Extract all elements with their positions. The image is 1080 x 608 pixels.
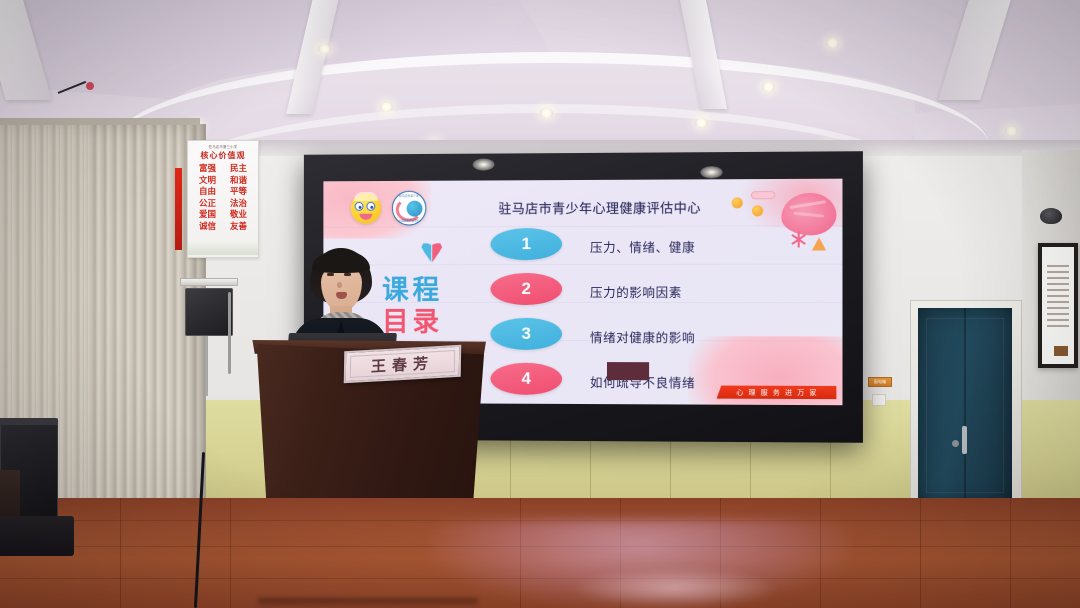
red-wall-strip [175, 168, 182, 250]
broken-heart-icon [421, 243, 443, 263]
electrical-warning-sign: 配电箱 [868, 377, 892, 387]
smiley-face-logo-icon [351, 193, 381, 224]
screen-light-reflection [700, 166, 722, 178]
conduit-pipe [205, 336, 208, 396]
poster-row: 爱国敬业 [192, 209, 254, 221]
poster-row: 富强民主 [192, 163, 254, 175]
slide-item-number: 1 [491, 228, 563, 260]
poster-row: 公正法治 [192, 198, 254, 210]
rack-base [0, 516, 74, 556]
speaker-nose [337, 282, 342, 288]
speaker-nameplate: 王春芳 [344, 345, 462, 384]
door-handle[interactable] [962, 426, 967, 454]
poster-value: 平等 [230, 186, 247, 198]
poster-title: 核心价值观 [192, 150, 254, 161]
downlight-icon [380, 102, 393, 112]
poster-value: 敬业 [230, 209, 247, 221]
poster-value: 爱国 [199, 209, 216, 221]
downlight-icon [318, 44, 331, 54]
conduit-pipe [228, 292, 231, 374]
poster-value: 文明 [199, 175, 216, 187]
slide-dark-block [607, 362, 649, 380]
slide-footer-banner: 心理服务进万家 [717, 386, 837, 400]
electrical-panel: ▮▮▮▮ [185, 288, 233, 336]
poster-value: 友善 [230, 221, 247, 233]
slide-item-number: 3 [491, 318, 563, 350]
seal-bottom-text: 心理健康评估中心 [393, 219, 425, 223]
wall-switch-box [872, 394, 886, 406]
poster-value: 公正 [199, 198, 216, 210]
poster-header: 驻马店市第三小学 [192, 144, 254, 149]
poster-value: 和谐 [230, 175, 247, 187]
speaker-eye [327, 273, 334, 276]
poster-value: 诚信 [199, 221, 216, 233]
spark-icon [790, 231, 808, 247]
poster-row: 诚信友善 [192, 221, 254, 233]
sign-label: 配电箱 [869, 378, 891, 386]
poster-value: 民主 [230, 163, 247, 175]
security-camera-icon [1040, 208, 1062, 224]
cone-icon [812, 237, 826, 250]
poster-row: 自由平等 [192, 186, 254, 198]
downlight-icon [695, 118, 708, 128]
downlight-icon [762, 82, 775, 92]
microphone-icon [86, 82, 94, 90]
nameplate-text: 王春芳 [350, 350, 455, 378]
slide-item-label: 情绪对健康的影响 [590, 327, 695, 346]
screen-light-spill [570, 568, 780, 608]
lecture-hall-photo: ▮▮▮▮ 驻马店市第三小学 核心价值观 富强民主 文明和谐 自由平等 公正法治 … [0, 0, 1080, 608]
screen-light-reflection [473, 159, 495, 171]
speaker-fringe [312, 250, 370, 273]
door-lock-icon[interactable] [952, 440, 959, 447]
poster-value: 富强 [199, 163, 216, 175]
poster-value: 自由 [199, 186, 216, 198]
core-values-poster: 驻马店市第三小学 核心价值观 富强民主 文明和谐 自由平等 公正法治 爱国敬业 … [187, 140, 259, 258]
slide-item-number: 2 [491, 273, 563, 305]
poster-row: 文明和谐 [192, 175, 254, 187]
center-seal-logo-icon: 驻马店市青少年 心理健康评估中心 [392, 191, 426, 226]
curtain-rod [0, 118, 200, 125]
speaker-eye [344, 273, 351, 276]
slide-heading: 驻马店市青少年心理健康评估中心 [498, 197, 809, 217]
seal-top-text: 驻马店市青少年 [393, 193, 425, 197]
slide-item-label: 压力、情绪、健康 [590, 237, 695, 256]
slide-item-number: 4 [491, 363, 563, 395]
poster-footer-art [188, 241, 258, 255]
downlight-icon [826, 38, 839, 48]
podium-reflection [258, 598, 478, 608]
downlight-icon [540, 108, 553, 118]
poster-seal [1054, 346, 1068, 356]
exit-door[interactable] [918, 308, 1012, 505]
poster-text-lines [1042, 247, 1074, 327]
slide-item-label: 压力的影响因素 [590, 282, 682, 301]
door-seam [964, 308, 966, 505]
framed-wall-poster [1038, 243, 1078, 368]
downlight-icon [1005, 126, 1018, 136]
panel-bracket [180, 278, 238, 286]
poster-value: 法治 [230, 198, 247, 210]
